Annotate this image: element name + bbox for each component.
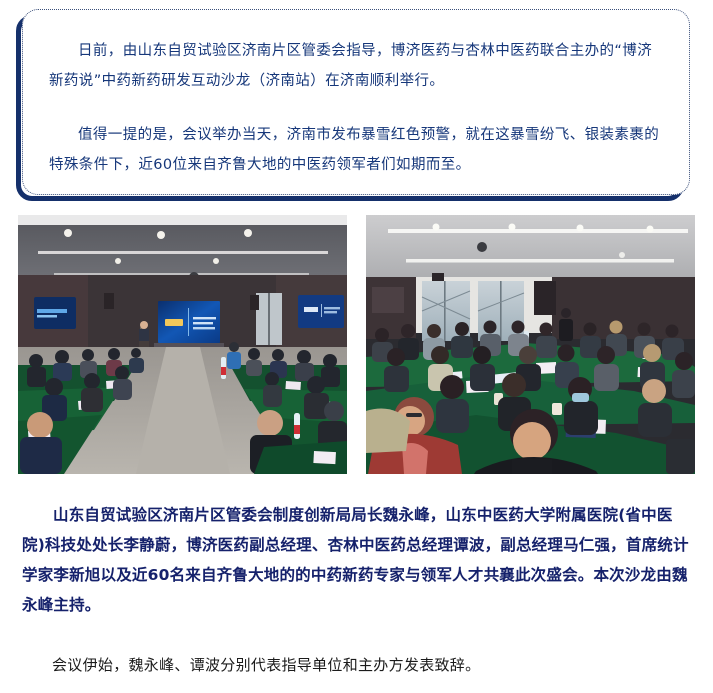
callout-paragraph-1: 日前，由山东自贸试验区济南片区管委会指导，博济医药与杏林中医药联合主办的“博济新… (49, 36, 663, 96)
photo-2-graphic (366, 215, 695, 474)
photo-1-graphic (18, 215, 347, 474)
photo-audience-closeup[interactable] (366, 215, 695, 474)
callout-paragraph-2: 值得一提的是，会议举办当天，济南市发布暴雪红色预警，就在这暴雪纷飞、银装素裹的特… (49, 120, 663, 180)
body-paragraph-plain: 会议伊始，魏永峰、谭波分别代表指导单位和主办方发表致辞。 (22, 620, 694, 680)
intro-callout: 日前，由山东自贸试验区济南片区管委会指导，博济医药与杏林中医药联合主办的“博济新… (22, 9, 690, 195)
article-body: 山东自贸试验区济南片区管委会制度创新局局长魏永峰，山东中医药大学附属医院(省中医… (22, 500, 694, 680)
callout-body: 日前，由山东自贸试验区济南片区管委会指导，博济医药与杏林中医药联合主办的“博济新… (22, 9, 690, 195)
body-paragraph-bold: 山东自贸试验区济南片区管委会制度创新局局长魏永峰，山东中医药大学附属医院(省中医… (22, 500, 694, 620)
photo-conference-hall-wide[interactable] (18, 215, 347, 474)
article-page: 日前，由山东自贸试验区济南片区管委会指导，博济医药与杏林中医药联合主办的“博济新… (0, 0, 713, 693)
photo-row (18, 215, 695, 474)
